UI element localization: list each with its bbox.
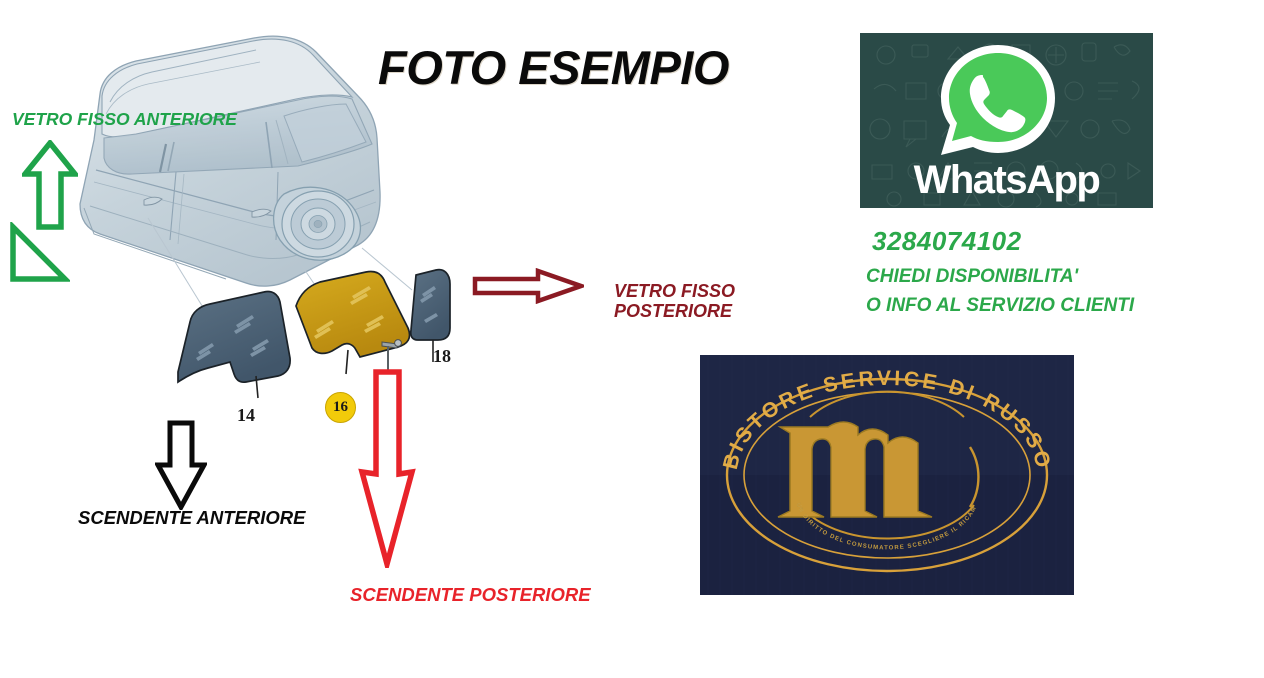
whatsapp-wordmark: WhatsApp: [860, 158, 1153, 203]
poster-canvas: FOTO ESEMPIO: [0, 0, 1264, 678]
contact-line-customer-service: O INFO AL SERVIZIO CLIENTI: [866, 295, 1134, 317]
annotation-label-vetro-fisso-anteriore: VETRO FISSO ANTERIORE: [12, 110, 237, 130]
green-triangle-icon: [8, 222, 70, 284]
whatsapp-phone-number[interactable]: 3284074102: [872, 226, 1022, 257]
part-number-18: 18: [433, 346, 451, 367]
shop-logo: MRICAMBISTORE SERVICE DI RUSSO MARCO E' …: [700, 355, 1074, 595]
whatsapp-logo-icon: [935, 41, 1061, 159]
annotation-label-scendente-posteriore: SCENDENTE POSTERIORE: [350, 585, 591, 606]
contact-line-availability: CHIEDI DISPONIBILITA': [866, 266, 1078, 288]
part-number-badge-16: 16: [325, 392, 356, 423]
red-down-arrow-icon: [358, 368, 416, 568]
page-title: FOTO ESEMPIO: [378, 40, 729, 95]
whatsapp-banner[interactable]: WhatsApp: [860, 33, 1153, 208]
vfp-line-1: VETRO FISSO: [614, 281, 735, 301]
part-number-14: 14: [237, 405, 255, 426]
annotation-label-scendente-anteriore: SCENDENTE ANTERIORE: [78, 508, 306, 529]
annotation-label-vetro-fisso-posteriore: VETRO FISSOPOSTERIORE: [614, 281, 735, 321]
vfp-line-2: POSTERIORE: [614, 301, 732, 321]
black-down-arrow-icon: [155, 420, 207, 510]
maroon-right-arrow-icon: [472, 268, 584, 304]
green-up-arrow-icon: [22, 140, 78, 230]
